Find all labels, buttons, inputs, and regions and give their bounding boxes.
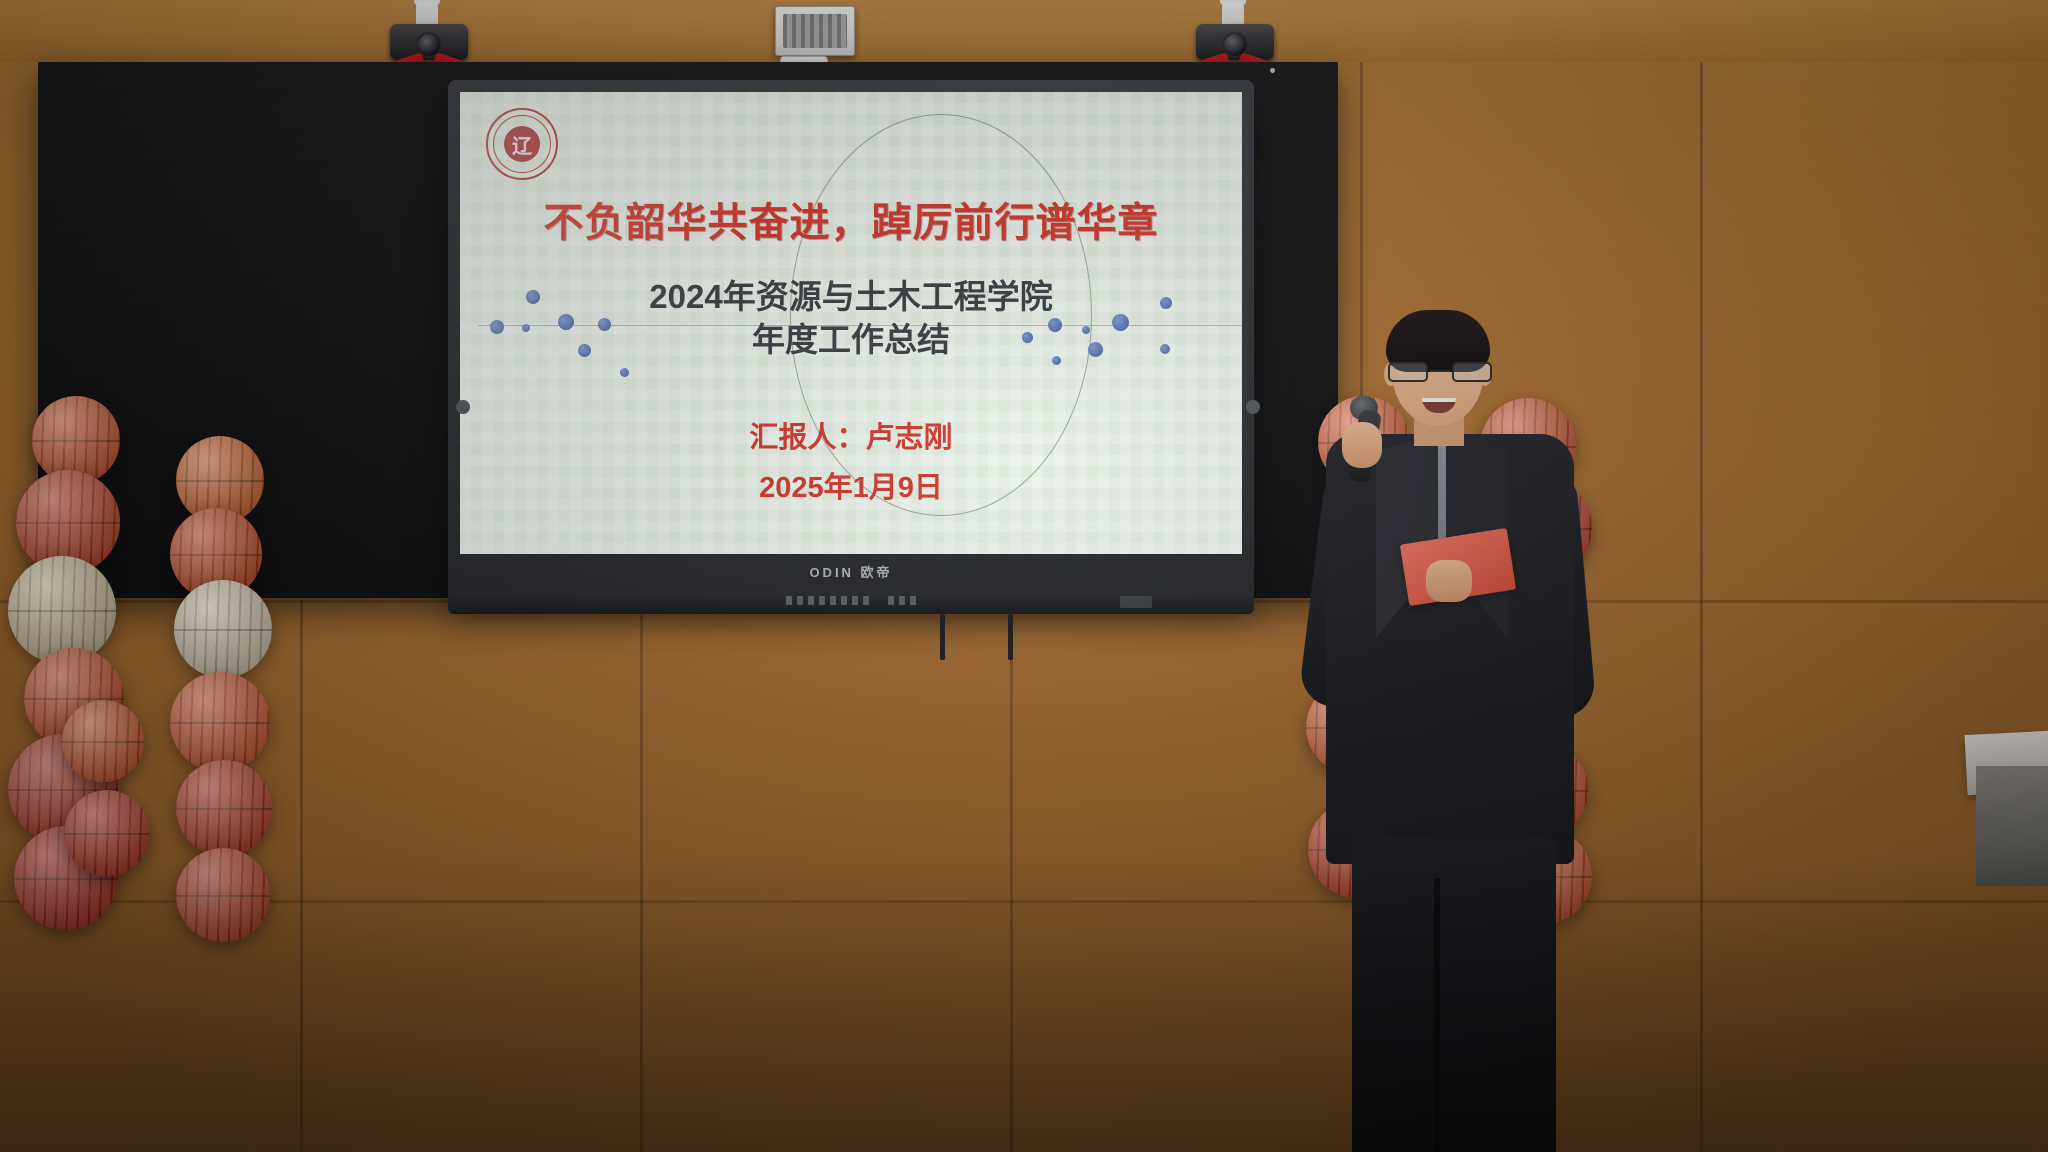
conference-room-scene: 辽 不负韶华共奋进，踔厉前行谱华章 xyxy=(0,0,2048,1152)
scene-vignette xyxy=(0,0,2048,1152)
